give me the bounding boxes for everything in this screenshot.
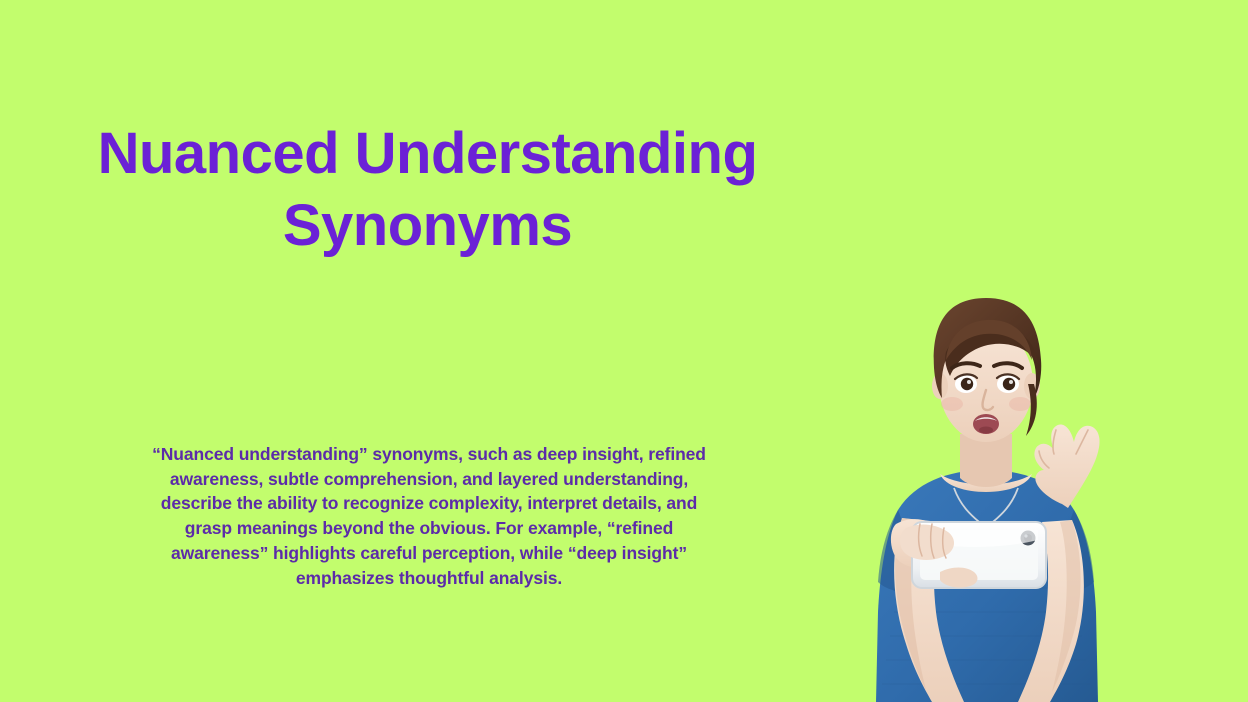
page-title: Nuanced Understanding Synonyms xyxy=(60,118,795,262)
slide-canvas: Nuanced Understanding Synonyms “Nuanced … xyxy=(0,0,1248,702)
woman-with-smartphone-photo xyxy=(836,272,1136,702)
body-paragraph: “Nuanced understanding” synonyms, such a… xyxy=(140,442,718,590)
body-text-block: “Nuanced understanding” synonyms, such a… xyxy=(140,442,718,590)
title-line-1: Nuanced Understanding xyxy=(60,118,795,190)
title-line-2: Synonyms xyxy=(60,190,795,262)
head xyxy=(932,298,1041,442)
